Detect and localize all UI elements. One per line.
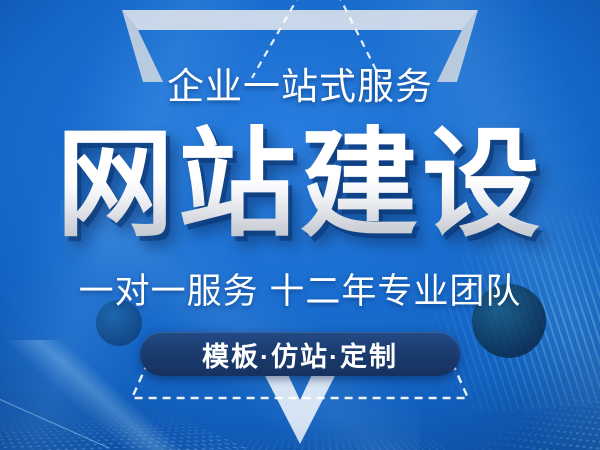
promo-banner: 企业一站式服务 网站建设 一对一服务 十二年专业团队 模板·仿站·定制	[0, 0, 600, 450]
banner-content: 企业一站式服务 网站建设 一对一服务 十二年专业团队 模板·仿站·定制	[0, 0, 600, 450]
service-badge: 模板·仿站·定制	[140, 332, 460, 376]
subtitle-middle: 一对一服务 十二年专业团队	[0, 272, 600, 311]
badge-container: 模板·仿站·定制	[0, 332, 600, 376]
subtitle-top: 企业一站式服务	[0, 66, 600, 107]
headline-title: 网站建设	[0, 124, 600, 247]
